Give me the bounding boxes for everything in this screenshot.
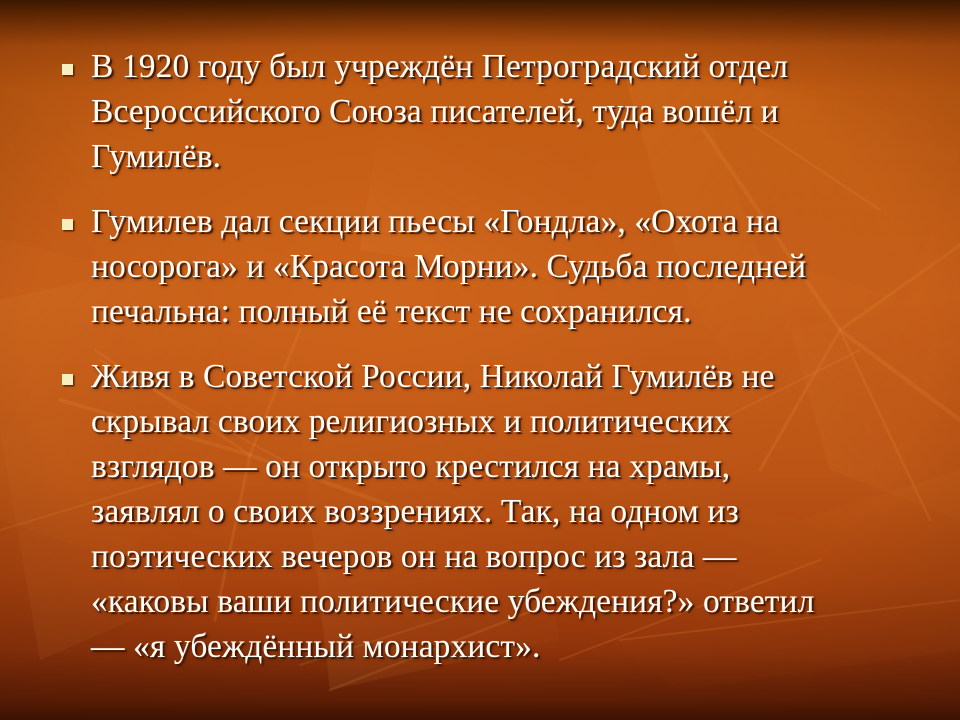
slide-content: В 1920 году был учреждён Петроградский о… xyxy=(0,0,960,720)
bullet-line: Всероссийского Союза писателей, туда вош… xyxy=(91,89,917,134)
square-bullet-icon xyxy=(62,374,73,385)
bullet-line: Живя в Советской России, Николай Гумилёв… xyxy=(91,354,917,399)
presentation-slide: В 1920 году был учреждён Петроградский о… xyxy=(0,0,960,720)
list-item: Гумилев дал секции пьесы «Гондла», «Охот… xyxy=(57,199,917,334)
list-item: Живя в Советской России, Николай Гумилёв… xyxy=(57,354,917,669)
list-item: В 1920 году был учреждён Петроградский о… xyxy=(57,44,917,179)
bullet-line: — «я убеждённый монархист». xyxy=(91,624,917,669)
bullet-line: взглядов — он открыто крестился на храмы… xyxy=(91,444,917,489)
bullet-line: Гумилёв. xyxy=(91,134,917,179)
bullet-line: заявлял о своих воззрениях. Так, на одно… xyxy=(91,489,917,534)
bullet-line: Гумилев дал секции пьесы «Гондла», «Охот… xyxy=(91,199,917,244)
bullet-list: В 1920 году был учреждён Петроградский о… xyxy=(57,44,917,669)
bullet-line: скрывал своих религиозных и политических xyxy=(91,399,917,444)
bullet-text-3: Живя в Советской России, Николай Гумилёв… xyxy=(91,354,917,669)
square-bullet-icon xyxy=(62,64,73,75)
bullet-line: В 1920 году был учреждён Петроградский о… xyxy=(91,44,917,89)
square-bullet-icon xyxy=(62,219,73,230)
bullet-text-2: Гумилев дал секции пьесы «Гондла», «Охот… xyxy=(91,199,917,334)
bullet-line: носорога» и «Красота Морни». Судьба посл… xyxy=(91,244,917,289)
bullet-line: «каковы ваши политические убеждения?» от… xyxy=(91,579,917,624)
bullet-line: печальна: полный её текст не сохранился. xyxy=(91,289,917,334)
bullet-line: поэтических вечеров он на вопрос из зала… xyxy=(91,534,917,579)
bullet-text-1: В 1920 году был учреждён Петроградский о… xyxy=(91,44,917,179)
